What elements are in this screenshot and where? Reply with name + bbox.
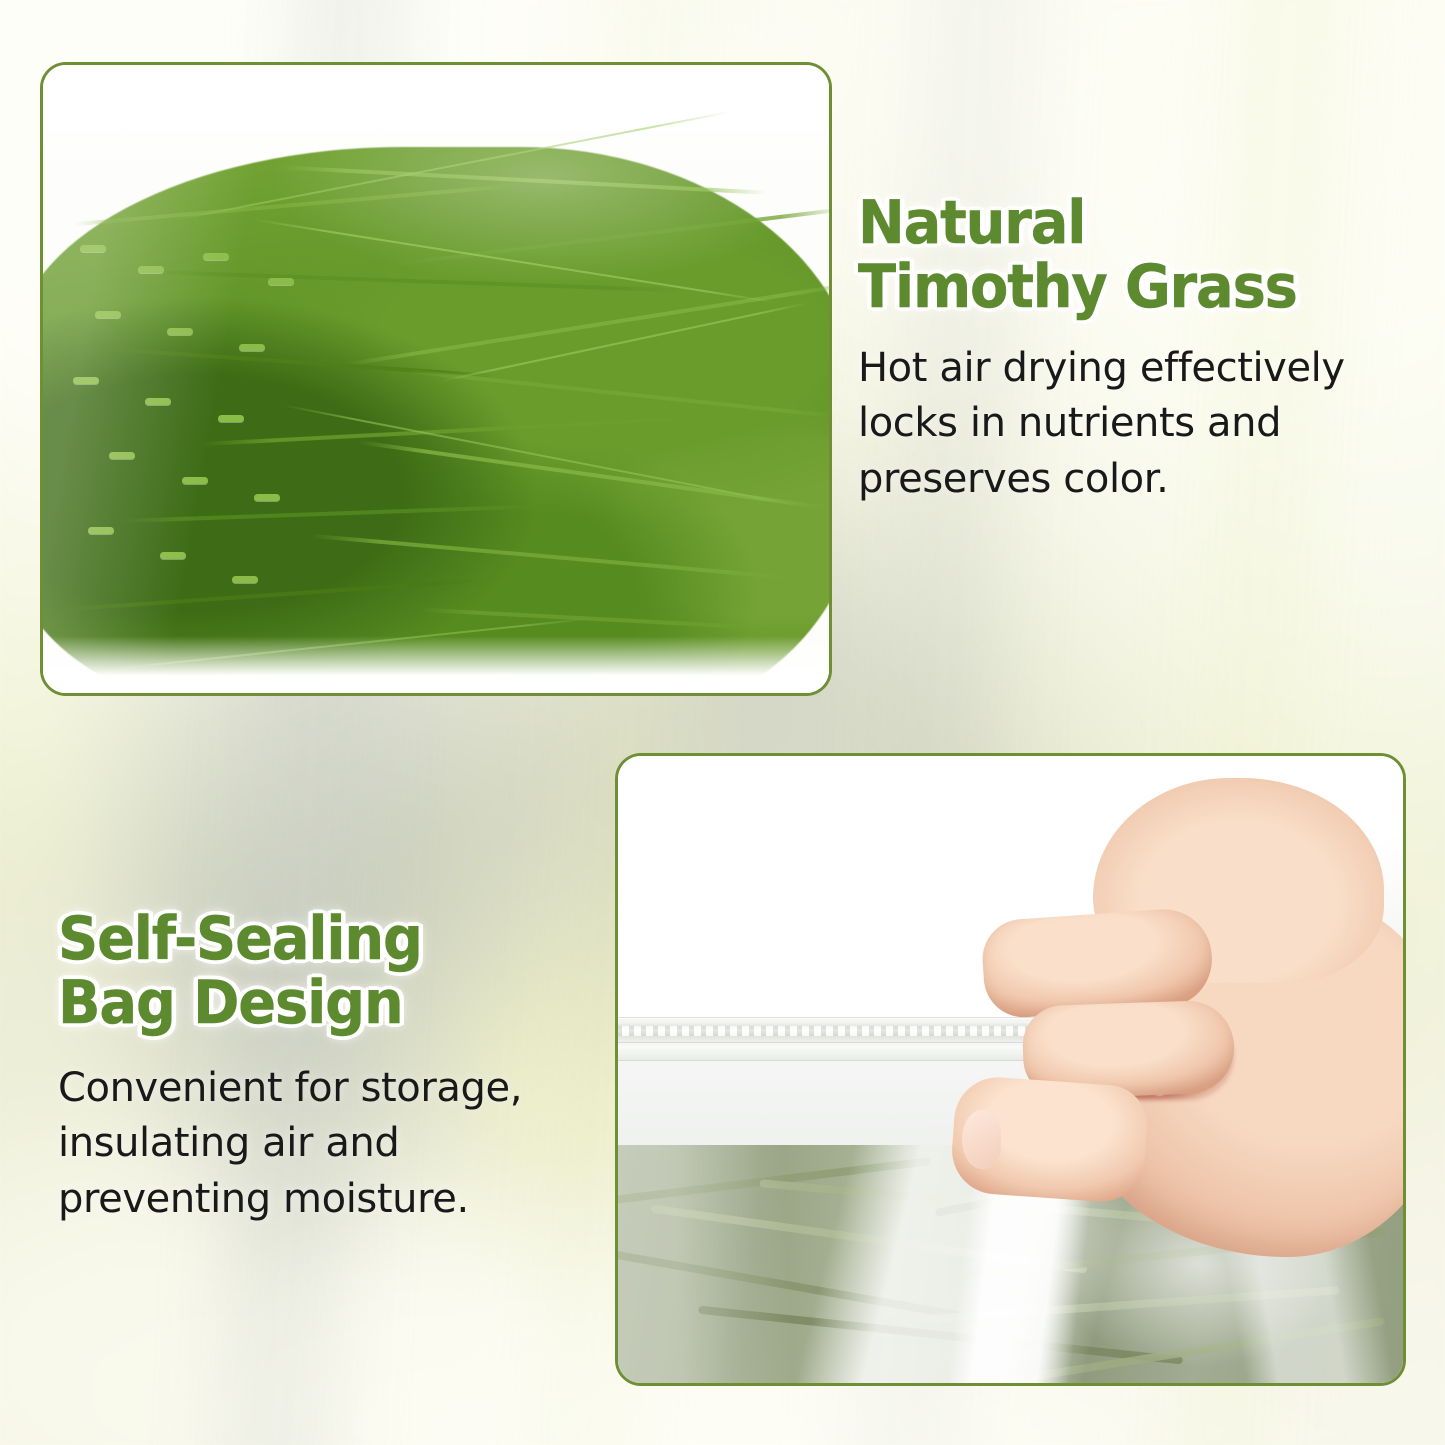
feature-image-panel-sealing-bag bbox=[615, 753, 1406, 1386]
grass-blade bbox=[390, 207, 829, 267]
cut-stem-end bbox=[138, 266, 164, 273]
feature-text-timothy-grass: Natural Timothy Grass Hot air drying eff… bbox=[858, 192, 1403, 507]
grass-blade bbox=[359, 440, 827, 510]
cut-stem-end bbox=[232, 576, 258, 583]
cut-stem-end bbox=[160, 552, 186, 559]
cut-stem-end bbox=[73, 377, 99, 384]
feature-text-sealing-bag: Self-Sealing Bag Design Convenient for s… bbox=[58, 908, 608, 1227]
cut-stem-end bbox=[218, 415, 244, 422]
feature-image-panel-timothy-grass bbox=[40, 62, 832, 696]
cut-stem-end bbox=[239, 344, 265, 351]
cut-stem-end bbox=[80, 245, 106, 252]
timothy-grass-photo bbox=[43, 65, 829, 693]
hand-pinching-zip-slider bbox=[979, 787, 1403, 1276]
cut-stem-end bbox=[268, 278, 294, 285]
cut-stem-end bbox=[109, 452, 135, 459]
feature-headline-timothy-grass: Natural Timothy Grass bbox=[858, 192, 1365, 319]
cut-stem-end bbox=[254, 494, 280, 501]
grass-blade bbox=[174, 111, 730, 221]
cut-stem-end bbox=[203, 253, 229, 260]
self-sealing-bag-photo bbox=[618, 756, 1403, 1383]
cut-stem-end bbox=[145, 398, 171, 405]
cut-stem-end bbox=[182, 477, 208, 484]
grass-blade bbox=[420, 607, 813, 632]
grass-blade bbox=[279, 165, 766, 194]
thumb-nail bbox=[962, 1110, 1002, 1169]
feature-body-sealing-bag: Convenient for storage, insulating air a… bbox=[58, 1061, 608, 1227]
feature-headline-sealing-bag: Self-Sealing Bag Design bbox=[58, 908, 570, 1035]
cut-stem-end bbox=[95, 311, 121, 318]
feature-body-timothy-grass: Hot air drying effectively locks in nutr… bbox=[858, 341, 1403, 507]
photo-white-backdrop-bottom bbox=[43, 636, 829, 693]
grass-blade bbox=[75, 184, 514, 226]
cut-stem-end bbox=[167, 328, 193, 335]
cut-stem-ends-cluster bbox=[59, 228, 421, 642]
cut-stem-end bbox=[88, 527, 114, 534]
